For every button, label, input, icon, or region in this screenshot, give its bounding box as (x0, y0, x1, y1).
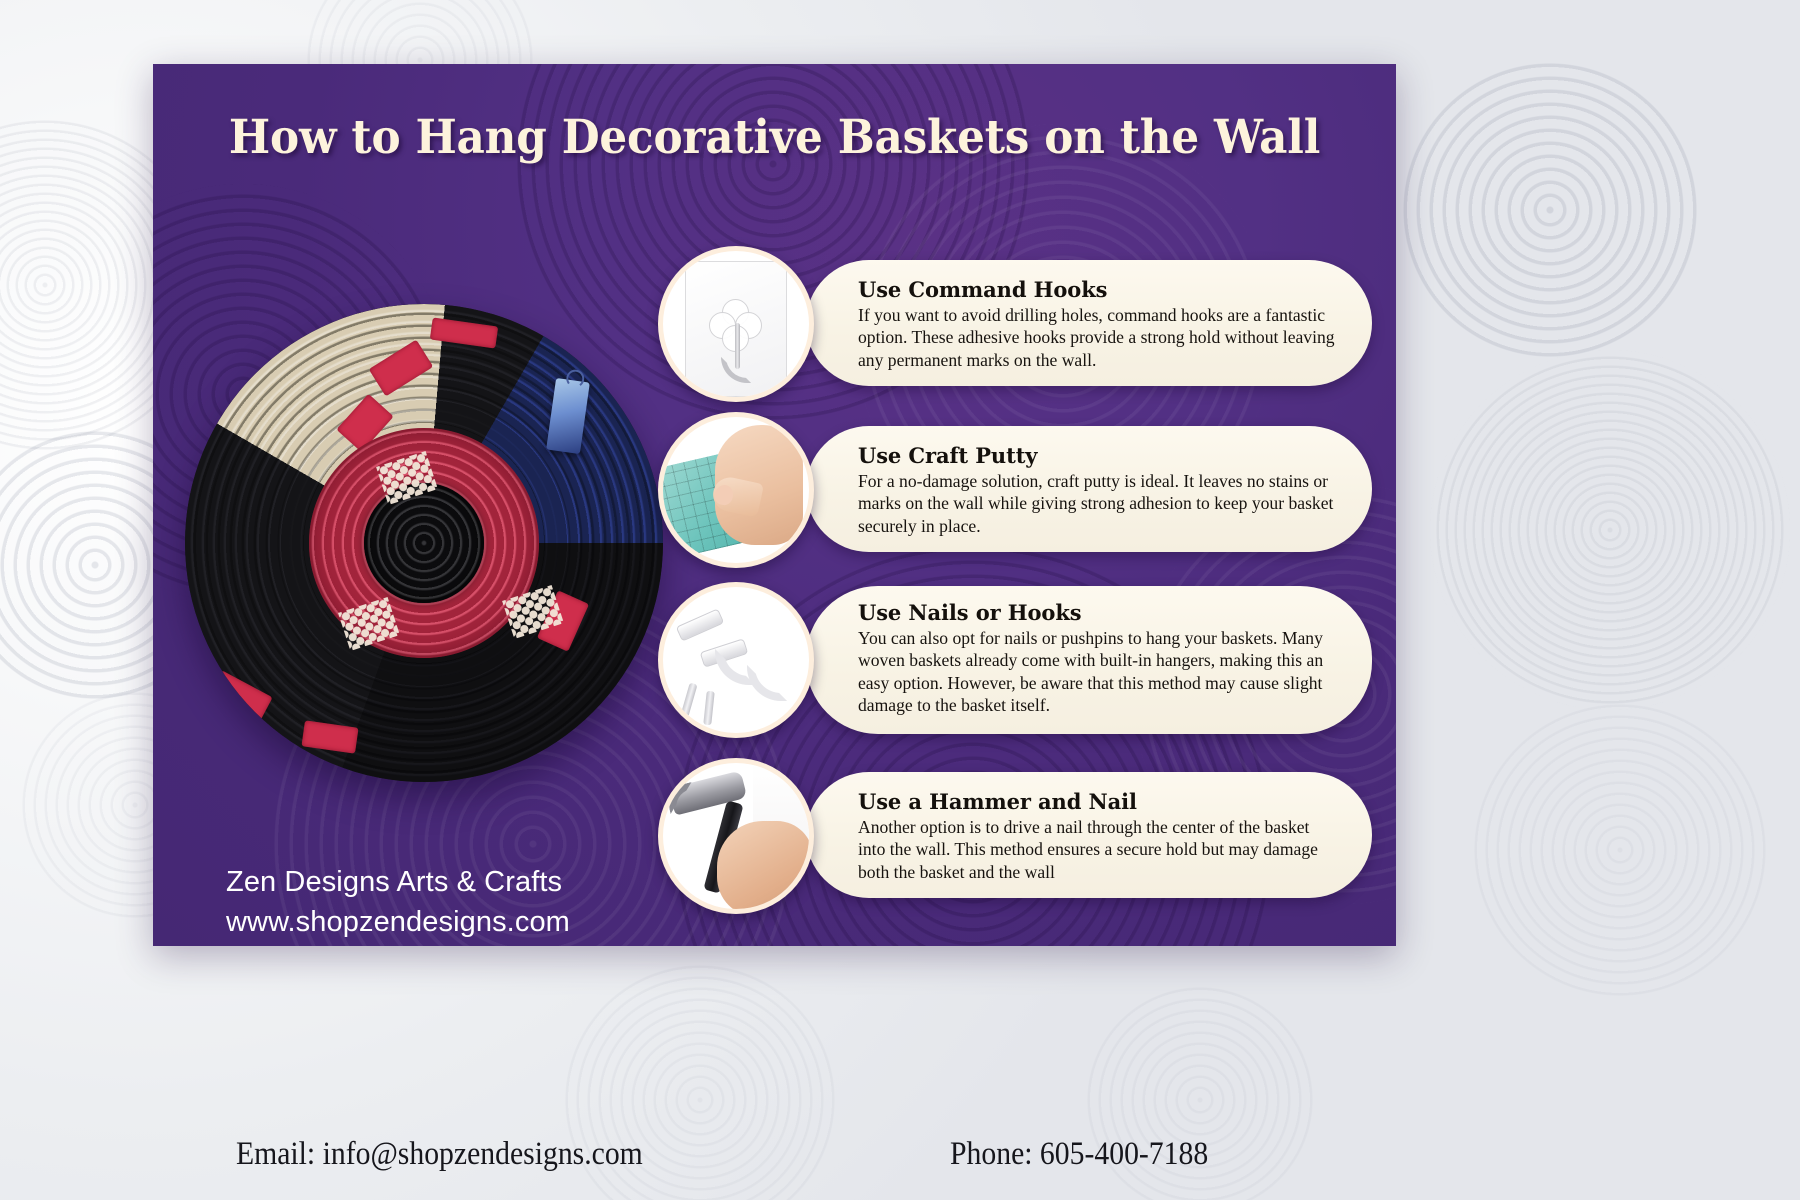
tip-body-4: Another option is to drive a nail throug… (858, 816, 1338, 883)
pushpin-shape (680, 683, 697, 718)
backdrop-basket-texture (1470, 700, 1770, 1000)
tip-card-4[interactable]: Use a Hammer and Nail Another option is … (806, 772, 1372, 898)
craft-putty-icon (658, 412, 814, 568)
tip-body-3: You can also opt for nails or pushpins t… (858, 627, 1338, 716)
basket-spiral-texture (364, 483, 484, 603)
footer-email[interactable]: Email: info@shopzendesigns.com (236, 1136, 643, 1173)
tip-heading-3: Use Nails or Hooks (858, 600, 1338, 625)
tip-card-3[interactable]: Use Nails or Hooks You can also opt for … (806, 586, 1372, 734)
hammer-nail-icon (658, 758, 814, 914)
tip-card-1[interactable]: Use Command Hooks If you want to avoid d… (806, 260, 1372, 386)
hand-shape (717, 821, 809, 909)
tip-body-1: If you want to avoid drilling holes, com… (858, 304, 1338, 371)
basket-photo (185, 304, 663, 782)
pushpin-shape (703, 691, 715, 726)
tip-heading-4: Use a Hammer and Nail (858, 789, 1338, 814)
footer-phone[interactable]: Phone: 605-400-7188 (950, 1136, 1208, 1173)
page-title: How to Hang Decorative Baskets on the Wa… (197, 110, 1353, 165)
brand-block: Zen Designs Arts & Crafts www.shopzendes… (226, 862, 570, 942)
tip-heading-1: Use Command Hooks (858, 277, 1338, 302)
brand-website[interactable]: www.shopzendesigns.com (226, 902, 570, 942)
infographic-page: How to Hang Decorative Baskets on the Wa… (0, 0, 1800, 1200)
hook-bracket-shape (676, 608, 725, 641)
tip-card-2[interactable]: Use Craft Putty For a no-damage solution… (806, 426, 1372, 552)
backdrop-basket-texture (1430, 350, 1790, 710)
basket-spiral-core (364, 483, 484, 603)
plastic-hook-icon (658, 582, 814, 738)
woven-basket-image (185, 304, 663, 782)
backdrop-basket-texture (1400, 60, 1700, 360)
command-hook-icon (658, 246, 814, 402)
hook-curve-shape (747, 665, 787, 701)
tip-body-2: For a no-damage solution, craft putty is… (858, 470, 1338, 537)
brand-name: Zen Designs Arts & Crafts (226, 862, 570, 902)
poster-panel: How to Hang Decorative Baskets on the Wa… (153, 64, 1396, 946)
tip-heading-2: Use Craft Putty (858, 443, 1338, 468)
